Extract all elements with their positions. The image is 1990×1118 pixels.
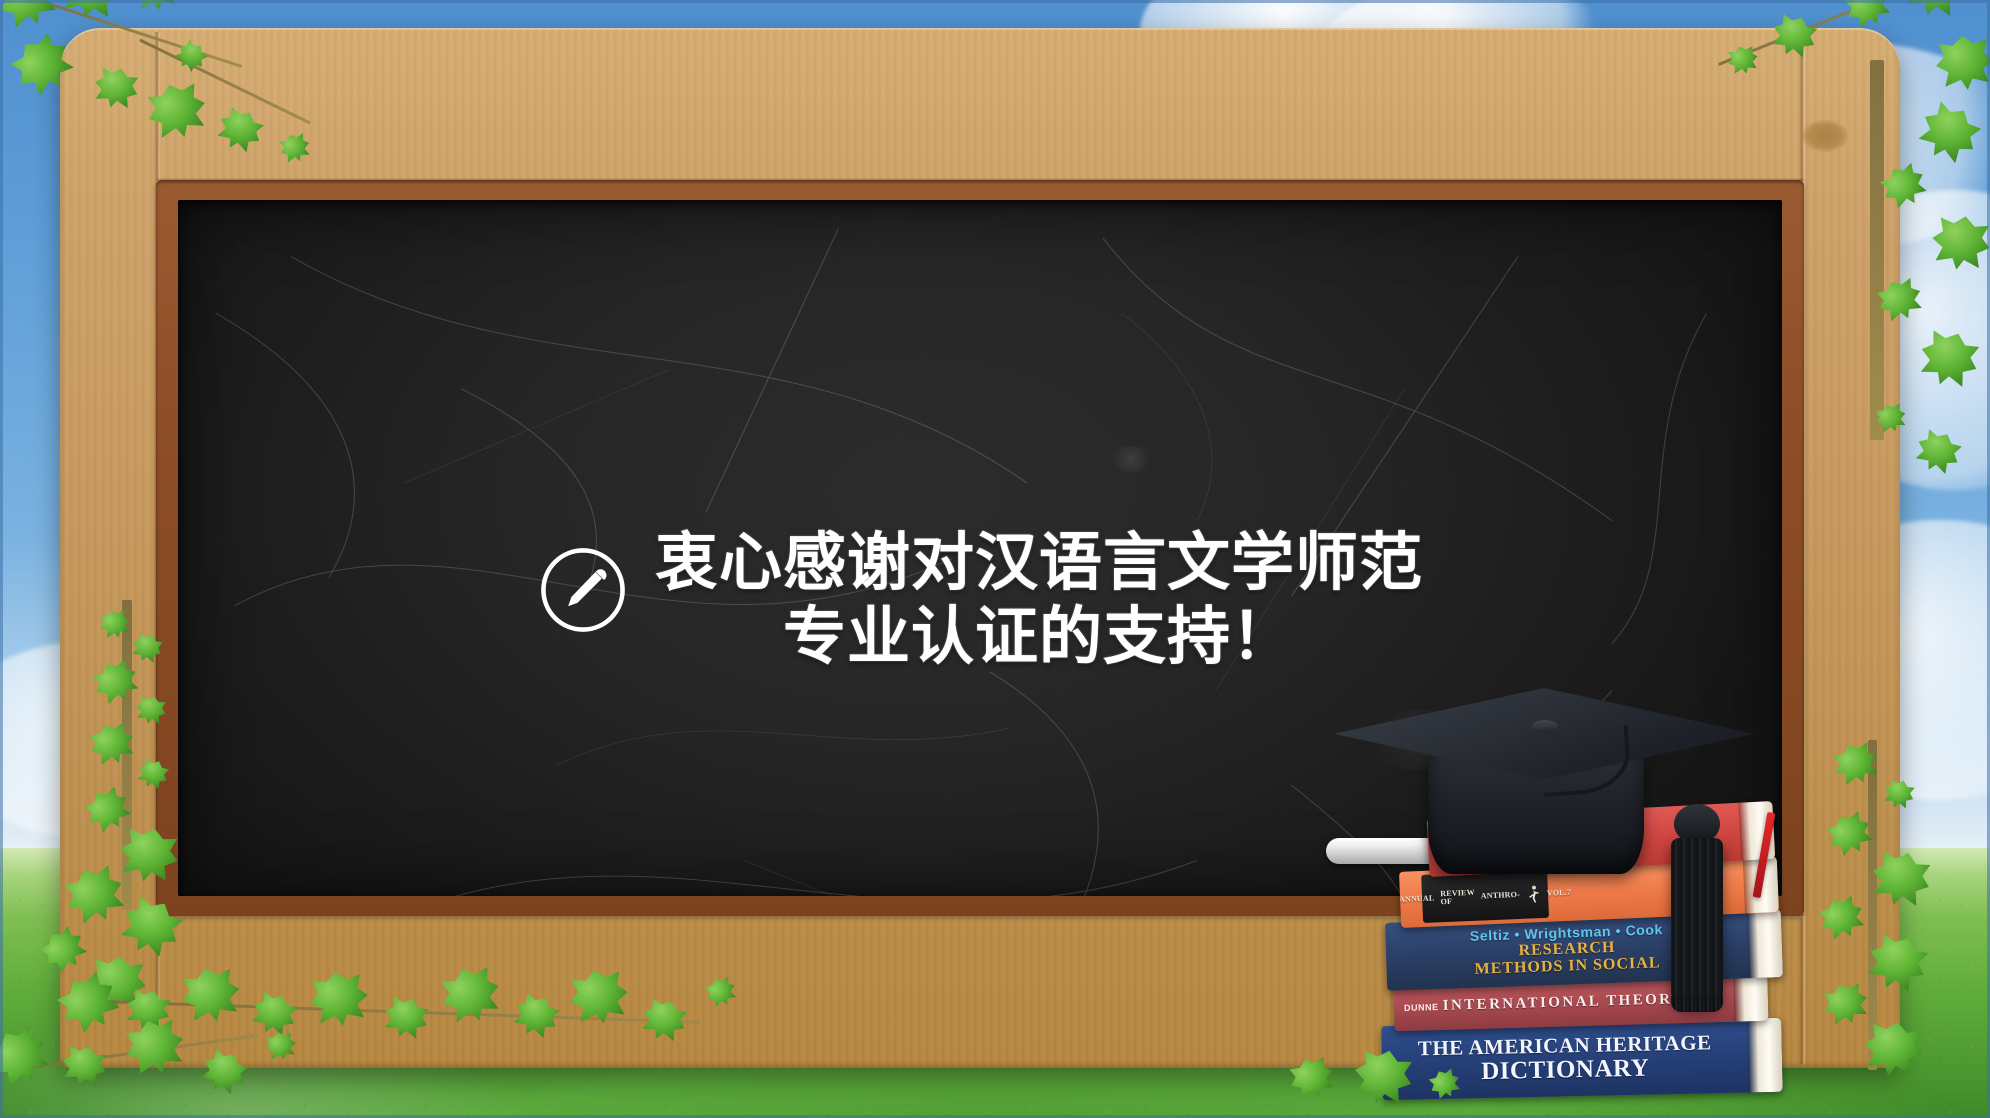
headline-line-1: 衷心感谢对汉语言文学师范: [655, 526, 1423, 600]
slide-canvas: 衷心感谢对汉语言文学师范 专业认证的支持！ THE AMERICAN HERIT…: [0, 0, 1990, 1118]
book-spine-text: THE AMERICAN HERITAGE DICTIONARY: [1381, 1019, 1748, 1101]
tassel-strands: [1671, 838, 1723, 1006]
book-title-line-2: METHODS IN SOCIAL: [1474, 956, 1660, 979]
book-title: INTERNATIONAL THEORY: [1443, 992, 1686, 1015]
graduation-book-stack: THE AMERICAN HERITAGE DICTIONARY DUNNE I…: [1368, 700, 1838, 1118]
book-blue-dictionary: THE AMERICAN HERITAGE DICTIONARY: [1381, 1018, 1782, 1100]
headline-text: 衷心感谢对汉语言文学师范 专业认证的支持！: [655, 526, 1423, 675]
book-pages: [1733, 975, 1768, 1022]
cap-tassel: [1668, 804, 1726, 1024]
book-title-line-1: THE AMERICAN HERITAGE: [1418, 1032, 1712, 1060]
chalk-smudge: [1108, 446, 1154, 472]
pencil-edit-icon: [537, 544, 629, 636]
headline-line-2: 专业认证的支持！: [783, 600, 1295, 674]
book-title-line-2: DICTIONARY: [1481, 1056, 1650, 1086]
book-pages: [1747, 1018, 1783, 1093]
headline-block: 衷心感谢对汉语言文学师范 专业认证的支持！: [178, 526, 1782, 675]
